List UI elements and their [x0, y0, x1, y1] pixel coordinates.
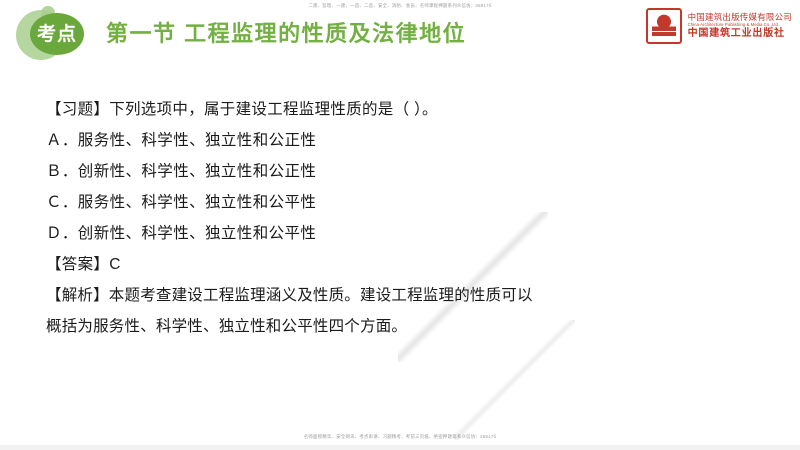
slide-root: 二建、监理、一建、一造、二造、安全、消防、会员、名师课程押题系列众信仿：3691…: [0, 0, 800, 450]
badge-circle: 考点: [30, 13, 84, 55]
publisher-logo: 中国建筑出版传媒有限公司 China Architecture Publishi…: [646, 8, 792, 44]
answer-line: 【答案】C: [46, 249, 746, 280]
publisher-logo-text: 中国建筑出版传媒有限公司 China Architecture Publishi…: [688, 13, 792, 39]
badge-label: 考点: [37, 25, 77, 44]
publisher-emblem-icon: [646, 8, 682, 44]
page-title: 第一节 工程监理的性质及法律地位: [106, 16, 466, 48]
option-b: Ｂ．创新性、科学性、独立性和公正性: [46, 156, 746, 187]
bottom-watermark-text: 名师面授精华、安全网讯、考点串讲、习题精考、考前三页纸、绝密押题第系众信仿：36…: [0, 433, 800, 440]
bottom-edge-strip: [0, 445, 800, 450]
question-stem: 【习题】下列选项中，属于建设工程监理性质的是（ ）。: [46, 94, 746, 125]
option-c: Ｃ．服务性、科学性、独立性和公平性: [46, 187, 746, 218]
question-block: 【习题】下列选项中，属于建设工程监理性质的是（ ）。 Ａ．服务性、科学性、独立性…: [46, 94, 746, 342]
keypoint-badge: 考点: [16, 6, 104, 62]
option-d: Ｄ．创新性、科学性、独立性和公平性: [46, 218, 746, 249]
option-a: Ａ．服务性、科学性、独立性和公正性: [46, 125, 746, 156]
explanation-line-2: 概括为服务性、科学性、独立性和公平性四个方面。: [46, 311, 746, 342]
publisher-press-name-cn: 中国建筑工业出版社: [688, 28, 792, 40]
explanation-line-1: 【解析】本题考查建设工程监理涵义及性质。建设工程监理的性质可以: [46, 280, 746, 311]
slide-body: 【习题】下列选项中，属于建设工程监理性质的是（ ）。 Ａ．服务性、科学性、独立性…: [0, 62, 800, 422]
slide-header: 考点 第一节 工程监理的性质及法律地位 中国建筑出版传媒有限公司 China A…: [0, 0, 800, 62]
